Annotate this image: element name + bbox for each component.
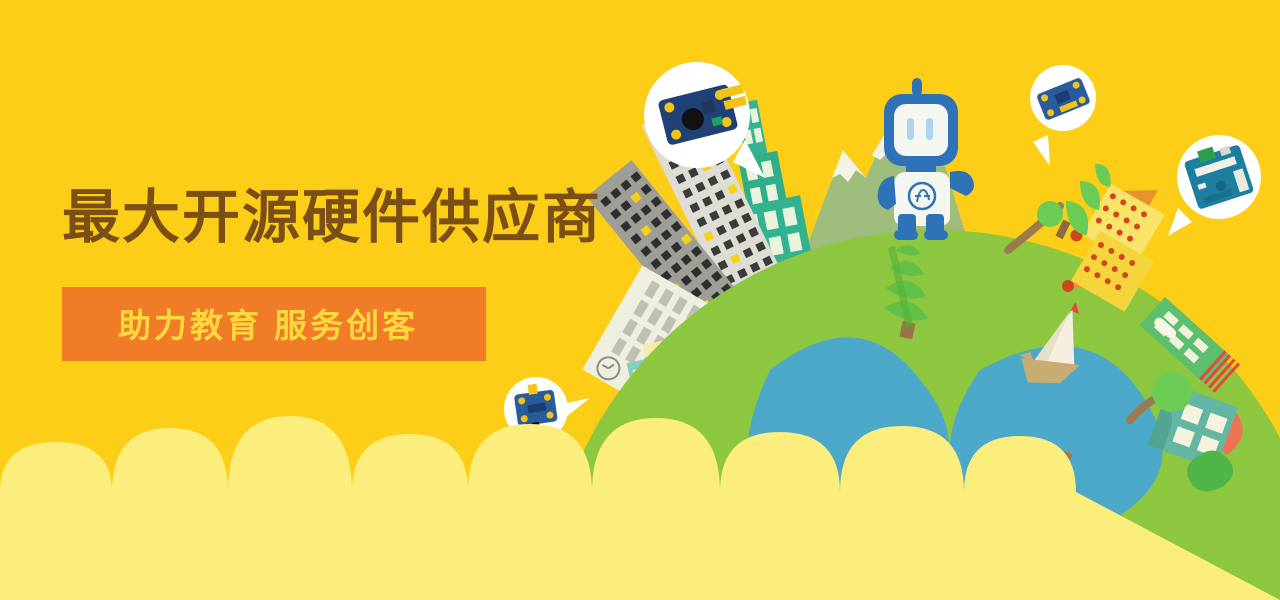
robot-screen	[894, 104, 948, 156]
page-title: 最大开源硬件供应商	[62, 186, 602, 251]
promo-banner: 最大开源硬件供应商 助力教育 服务创客	[0, 0, 1280, 600]
robot-eye-right	[926, 118, 933, 140]
banner-copy: 最大开源硬件供应商 助力教育 服务创客	[62, 186, 602, 361]
robot-eye-left	[907, 118, 914, 140]
robot-antenna	[912, 78, 922, 96]
subtitle-text: 助力教育 服务创客	[118, 299, 450, 347]
subtitle-band: 助力教育 服务创客	[62, 287, 486, 361]
